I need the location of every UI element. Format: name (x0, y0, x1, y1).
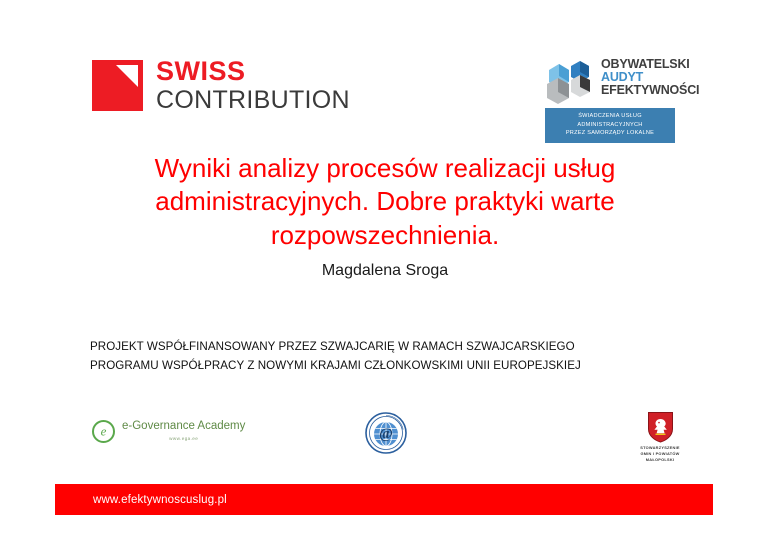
slide-author: Magdalena Sroga (110, 262, 660, 280)
association-name: STOWARZYSZENIE GMIN I POWIATÓW MAŁOPOLSK… (628, 445, 692, 463)
swiss-logo-wordmark: SWISS CONTRIBUTION (156, 58, 350, 113)
swiss-logo-line1: SWISS (156, 58, 350, 85)
obywatelski-audyt-logo: OBYWATELSKI AUDYT EFEKTYWNOŚCI ŚWIADCZEN… (545, 56, 677, 143)
swiss-triangle-shape (116, 65, 138, 87)
ega-circle-icon (92, 420, 115, 443)
ministry-seal-logo: @ (365, 412, 407, 454)
funding-statement: PROJEKT WSPÓŁFINANSOWANY PRZEZ SZWAJCARI… (90, 338, 690, 376)
ega-wordmark: e-Governance Academy www.ega.ee (122, 421, 245, 441)
cubes-icon (545, 56, 597, 104)
coat-of-arms-icon (647, 411, 674, 443)
audit-logo-banner: ŚWIADCZENIA USŁUG ADMINISTRACYJNYCH PRZE… (545, 108, 675, 143)
swiss-flag-mark-icon (92, 60, 143, 111)
swiss-contribution-logo: SWISS CONTRIBUTION (92, 58, 350, 113)
footer-bar: www.efektywnoscuslug.pl (55, 484, 713, 515)
e-governance-academy-logo: e-Governance Academy www.ega.ee (92, 420, 245, 443)
footer-website-url[interactable]: www.efektywnoscuslug.pl (93, 494, 227, 506)
presentation-slide: SWISS CONTRIBUTION OBYWATELSKI (0, 0, 768, 543)
slide-title: Wyniki analizy procesów realizacji usług… (110, 152, 660, 252)
ega-url: www.ega.ee (122, 437, 245, 442)
audit-banner-line2: PRZEZ SAMORZĄDY LOKALNE (548, 129, 672, 138)
partner-logo-strip: e-Governance Academy www.ega.ee @ (0, 406, 768, 462)
funding-line-1: PROJEKT WSPÓŁFINANSOWANY PRZEZ SZWAJCARI… (90, 338, 690, 357)
ega-name: e-Governance Academy (122, 421, 245, 433)
audit-banner-line1: ŚWIADCZENIA USŁUG ADMINISTRACYJNYCH (548, 112, 672, 129)
obywatelski-audyt-logo-top: OBYWATELSKI AUDYT EFEKTYWNOŚCI (545, 56, 677, 104)
funding-line-2: PROGRAMU WSPÓŁPRACY Z NOWYMI KRAJAMI CZŁ… (90, 357, 690, 376)
swiss-logo-line2: CONTRIBUTION (156, 88, 350, 113)
svg-text:@: @ (379, 426, 393, 442)
audit-logo-word3: EFEKTYWNOŚCI (601, 84, 699, 97)
obywatelski-audyt-wordmark: OBYWATELSKI AUDYT EFEKTYWNOŚCI (601, 56, 699, 97)
malopolska-association-logo: STOWARZYSZENIE GMIN I POWIATÓW MAŁOPOLSK… (628, 411, 692, 463)
association-line3: MAŁOPOLSKI (628, 457, 692, 463)
